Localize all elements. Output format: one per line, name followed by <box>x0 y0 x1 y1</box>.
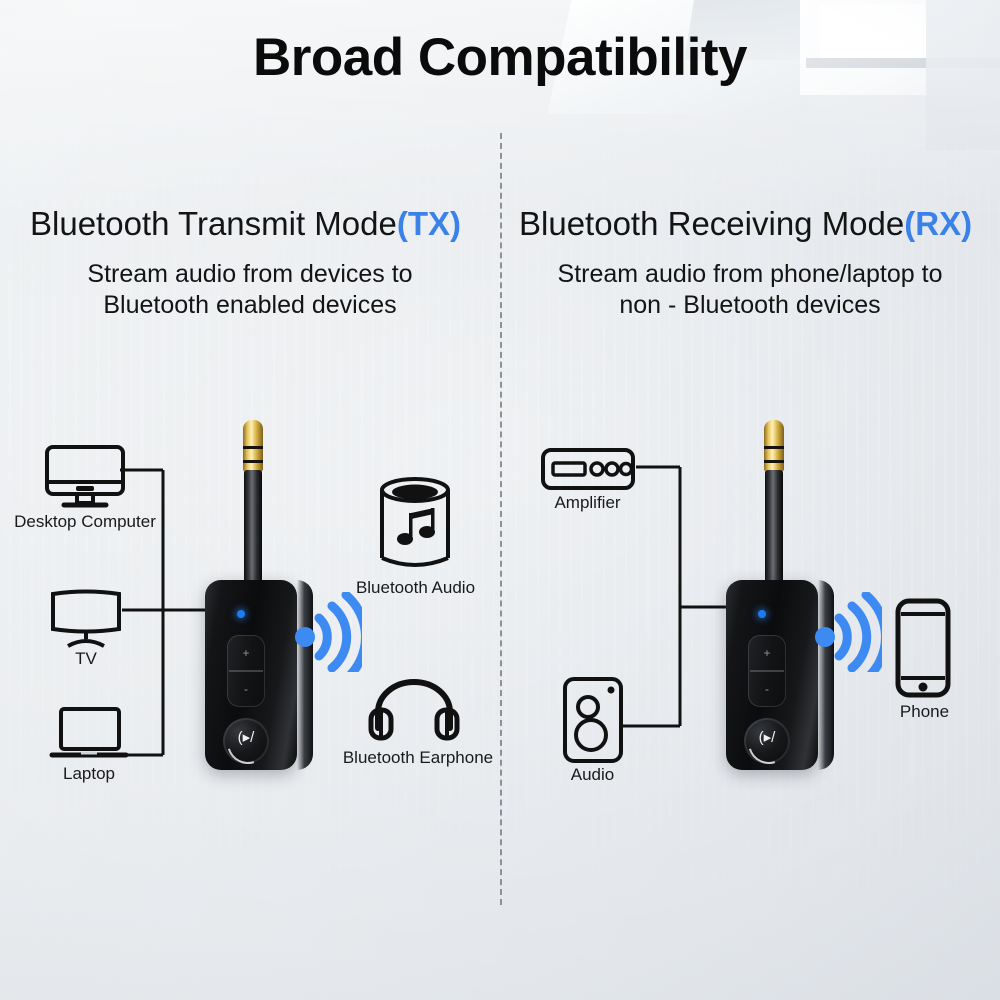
caption-amplifier: Amplifier <box>525 493 650 513</box>
caption-desktop-computer: Desktop Computer <box>0 512 170 532</box>
tx-multifunction-button[interactable]: (▸/ <box>223 718 269 764</box>
caption-audio: Audio <box>530 765 655 785</box>
rx-heading-text: Bluetooth Receiving Mode <box>519 205 904 242</box>
rx-plug-shaft <box>765 470 783 585</box>
desktop-computer-icon <box>44 444 126 508</box>
rx-status-led <box>758 610 766 618</box>
tx-panel-subtitle: Stream audio from devices to Bluetooth e… <box>20 259 480 321</box>
tx-panel-heading: Bluetooth Transmit Mode(TX) <box>30 205 461 243</box>
rx-plug-ring-2 <box>764 460 784 463</box>
tx-volume-divider <box>229 670 263 672</box>
rx-bluetooth-signal-icon <box>814 592 882 677</box>
tx-bluetooth-signal-icon <box>294 592 362 677</box>
rx-mfb-glyph: (▸/ <box>744 730 790 745</box>
tx-subtitle-line1: Stream audio from devices to <box>20 259 480 290</box>
amplifier-icon <box>540 447 636 491</box>
rx-heading-tag: (RX) <box>904 205 972 242</box>
rx-plug-ring-1 <box>764 446 784 449</box>
rx-subtitle-line1: Stream audio from phone/laptop to <box>510 259 990 290</box>
rx-volume-up-label: + <box>748 647 786 659</box>
tx-subtitle-line2: Bluetooth enabled devices <box>20 290 480 321</box>
tx-plug-shaft <box>244 470 262 585</box>
tx-volume-up-label: + <box>227 647 265 659</box>
caption-bluetooth-earphone: Bluetooth Earphone <box>323 748 513 768</box>
page-title: Broad Compatibility <box>0 27 1000 88</box>
infographic-canvas: Broad Compatibility Bluetooth Transmit M… <box>0 0 1000 1000</box>
rx-panel-subtitle: Stream audio from phone/laptop to non - … <box>510 259 990 321</box>
tx-mfb-glyph: (▸/ <box>223 730 269 745</box>
rx-subtitle-line2: non - Bluetooth devices <box>510 290 990 321</box>
rx-volume-divider <box>750 670 784 672</box>
rx-volume-rocker[interactable]: + - <box>748 635 786 707</box>
rx-multifunction-button[interactable]: (▸/ <box>744 718 790 764</box>
tv-icon <box>48 586 124 648</box>
tx-plug-ring-1 <box>243 446 263 449</box>
tx-volume-down-label: - <box>227 683 265 695</box>
caption-phone: Phone <box>872 702 977 722</box>
tx-status-led <box>237 610 245 618</box>
tx-heading-text: Bluetooth Transmit Mode <box>30 205 397 242</box>
phone-icon <box>895 598 951 698</box>
smart-speaker-icon <box>378 477 452 573</box>
caption-tv: TV <box>26 649 146 669</box>
rx-panel-heading: Bluetooth Receiving Mode(RX) <box>519 205 972 243</box>
tx-plug-ring-2 <box>243 460 263 463</box>
caption-bluetooth-audio: Bluetooth Audio <box>333 578 498 598</box>
laptop-icon <box>50 706 128 762</box>
rx-volume-down-label: - <box>748 683 786 695</box>
tx-heading-tag: (TX) <box>397 205 461 242</box>
caption-laptop: Laptop <box>24 764 154 784</box>
headphones-icon <box>368 676 460 742</box>
panel-divider <box>500 133 502 905</box>
speaker-box-icon <box>562 676 624 764</box>
tx-volume-rocker[interactable]: + - <box>227 635 265 707</box>
